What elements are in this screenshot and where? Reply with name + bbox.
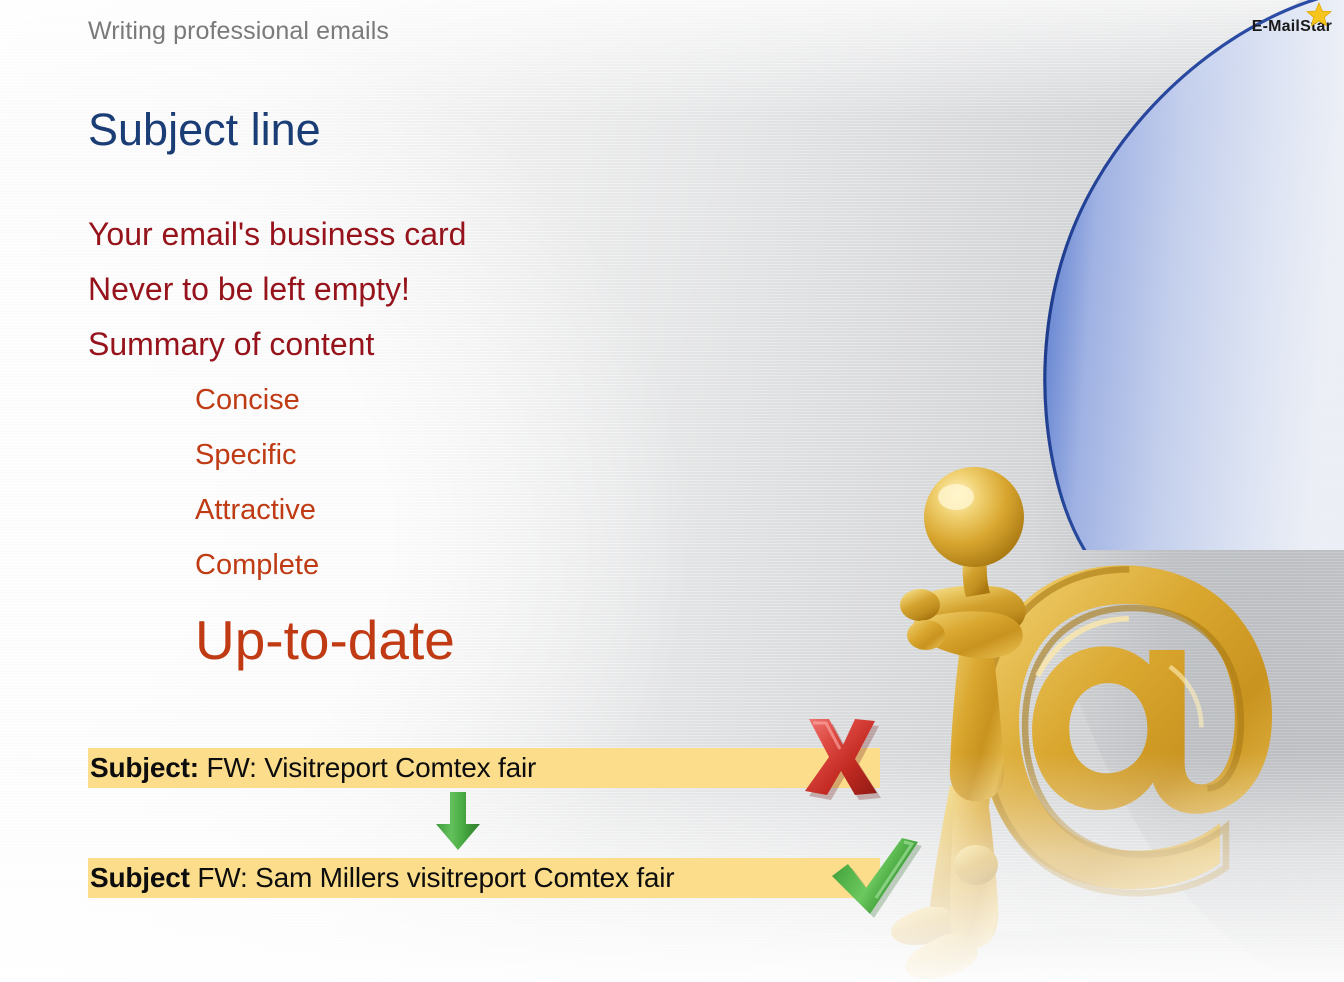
example-subject-label-bad: Subject: (90, 752, 199, 783)
slide-canvas: Writing professional emails E-MailStar S… (0, 0, 1344, 982)
example-subject-value-bad: FW: Visitreport Comtex fair (206, 752, 536, 783)
example-subject-text-bad: Subject: FW: Visitreport Comtex fair (90, 752, 536, 784)
down-arrow-icon (432, 790, 484, 852)
brand-logo: E-MailStar (1252, 18, 1332, 36)
bullet-level2-2: Attractive (195, 494, 316, 527)
page-title: Subject line (88, 104, 321, 156)
bullet-level1-0: Your email's business card (88, 216, 466, 253)
check-mark-icon (826, 836, 922, 918)
example-subject-label-good: Subject (90, 862, 190, 893)
bullet-level1-1: Never to be left empty! (88, 271, 410, 308)
bullet-level1-2: Summary of content (88, 326, 374, 363)
x-mark-icon (792, 714, 888, 800)
example-subject-bar-bad: Subject: FW: Visitreport Comtex fair (88, 748, 880, 788)
bullet-emphasis-up-to-date: Up-to-date (195, 608, 455, 672)
slide-kicker: Writing professional emails (88, 17, 389, 46)
example-subject-value-good: FW: Sam Millers visitreport Comtex fair (197, 862, 674, 893)
bullet-level2-3: Complete (195, 549, 319, 582)
star-icon (1306, 2, 1332, 28)
bullet-level2-0: Concise (195, 384, 300, 417)
example-subject-bar-good: Subject FW: Sam Millers visitreport Comt… (88, 858, 880, 898)
example-subject-text-good: Subject FW: Sam Millers visitreport Comt… (90, 862, 674, 894)
bullet-level2-1: Specific (195, 439, 297, 472)
